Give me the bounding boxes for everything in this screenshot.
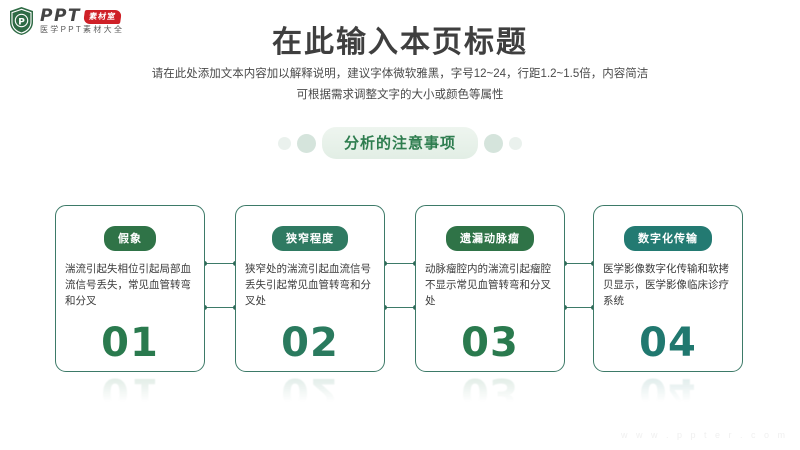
section-banner: 分析的注意事项 [0,128,800,158]
card-row: 假象 湍流引起失相位引起局部血流信号丢失，常见血管转弯和分叉 01 01 狭窄程… [55,205,745,375]
card-3-number: 03 [416,323,564,363]
card-2-number: 02 [236,323,384,363]
card-4-pill-label: 数字化传输 [624,226,712,251]
card-3-body-text: 动脉瘤腔内的湍流引起瘤腔不显示常见血管转弯和分叉处 [425,261,557,309]
card-4-number: 04 [594,323,742,363]
subtitle-line-1: 请在此处添加文本内容加以解释说明，建议字体微软雅黑，字号12~24，行距1.2~… [0,64,800,85]
page-subtitle: 请在此处添加文本内容加以解释说明，建议字体微软雅黑，字号12~24，行距1.2~… [0,64,800,106]
card-1-body-text: 湍流引起失相位引起局部血流信号丢失，常见血管转弯和分叉 [65,261,197,309]
connector-line-2-bottom [385,307,415,308]
banner-ornament-right-outer [509,137,522,150]
info-card-4[interactable]: 数字化传输 医学影像数字化传输和软拷贝显示，医学影像临床诊疗系统 04 [593,205,743,372]
connector-line-2-top [385,263,415,264]
connector-line-1-bottom [205,307,235,308]
connector-line-1-top [205,263,235,264]
card-1-pill-label: 假象 [104,226,156,251]
connector-line-3-bottom [565,307,593,308]
card-1-number-reflection: 01 [55,372,205,412]
subtitle-line-2: 可根据需求调整文字的大小或颜色等属性 [0,85,800,106]
card-4-number-reflection: 04 [593,372,743,412]
card-2-number-reflection: 02 [235,372,385,412]
card-2-body-text: 狭窄处的湍流引起血流信号丢失引起常见血管转弯和分叉处 [245,261,377,309]
banner-ornament-left-inner [297,134,316,153]
connector-line-3-top [565,263,593,264]
page-title: 在此输入本页标题 [0,17,800,61]
info-card-1[interactable]: 假象 湍流引起失相位引起局部血流信号丢失，常见血管转弯和分叉 01 [55,205,205,372]
card-4-body-text: 医学影像数字化传输和软拷贝显示，医学影像临床诊疗系统 [603,261,735,309]
card-3-number-reflection: 03 [415,372,565,412]
footer-watermark: w w w . p p t e r . c o m [621,430,788,440]
card-2-pill-label: 狭窄程度 [272,226,348,251]
section-title: 分析的注意事项 [322,127,478,159]
banner-ornament-right-inner [484,134,503,153]
banner-ornament-left-outer [278,137,291,150]
card-3-pill-label: 遗漏动脉瘤 [446,226,534,251]
info-card-3[interactable]: 遗漏动脉瘤 动脉瘤腔内的湍流引起瘤腔不显示常见血管转弯和分叉处 03 [415,205,565,372]
card-1-number: 01 [56,323,204,363]
info-card-2[interactable]: 狭窄程度 狭窄处的湍流引起血流信号丢失引起常见血管转弯和分叉处 02 [235,205,385,372]
